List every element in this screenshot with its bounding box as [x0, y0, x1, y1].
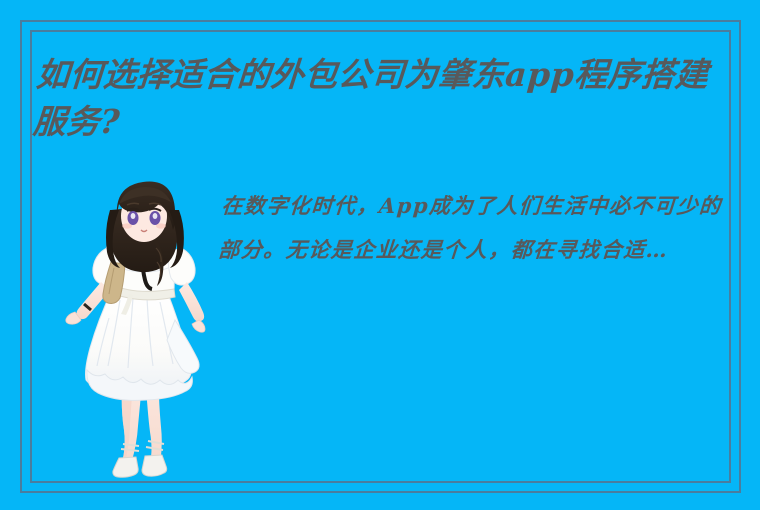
article-excerpt: 在数字化时代，App成为了人们生活中必不可少的部分。无论是企业还是个人，都在寻找…: [217, 184, 728, 272]
card-content: 如何选择适合的外包公司为肇东app程序搭建服务? 在数字化时代，App成为了人们…: [30, 30, 731, 483]
illustration-anime-girl: [57, 170, 232, 480]
article-title: 如何选择适合的外包公司为肇东app程序搭建服务?: [31, 51, 728, 145]
article-card: 如何选择适合的外包公司为肇东app程序搭建服务? 在数字化时代，App成为了人们…: [0, 0, 760, 510]
dress: [86, 290, 200, 400]
